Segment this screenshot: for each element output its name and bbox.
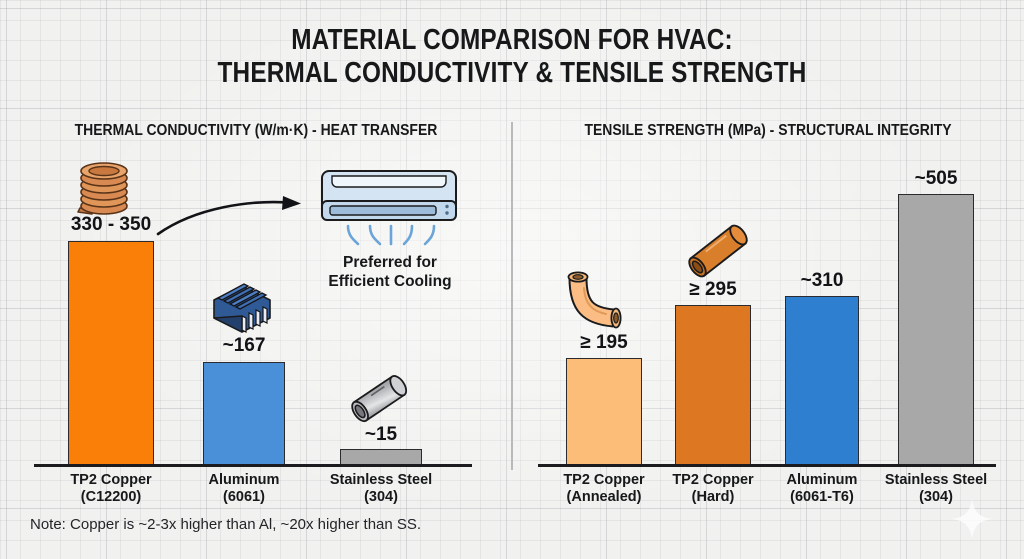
- sparkle-star-icon: [950, 497, 994, 541]
- tensile-strength-chart: ≥ 195 ≥ 295 ~310 ~505 TP2 Copper (Anneal…: [0, 0, 1024, 559]
- xlabel-main: Stainless Steel: [885, 472, 987, 488]
- copper-straight-pipe-icon: [682, 218, 754, 284]
- bar-copper-hard-tensile: [675, 305, 751, 465]
- xlabel-main: Aluminum: [787, 472, 858, 488]
- value-label-copper-annealed-tensile: ≥ 195: [554, 332, 654, 354]
- value-label-copper-hard-tensile: ≥ 295: [663, 279, 763, 301]
- bar-aluminum-tensile: [785, 296, 859, 465]
- xlabel-main: TP2 Copper: [563, 472, 644, 488]
- value-label-stainless-tensile: ~505: [886, 168, 986, 190]
- x-axis-right: [538, 464, 996, 467]
- footer-note: Note: Copper is ~2-3x higher than Al, ~2…: [30, 516, 421, 533]
- copper-elbow-pipe-icon: [562, 266, 634, 332]
- value-label-aluminum-tensile: ~310: [772, 270, 872, 292]
- xlabel-main: TP2 Copper: [672, 472, 753, 488]
- bar-stainless-tensile: [898, 194, 974, 465]
- bar-copper-annealed-tensile: [566, 358, 642, 465]
